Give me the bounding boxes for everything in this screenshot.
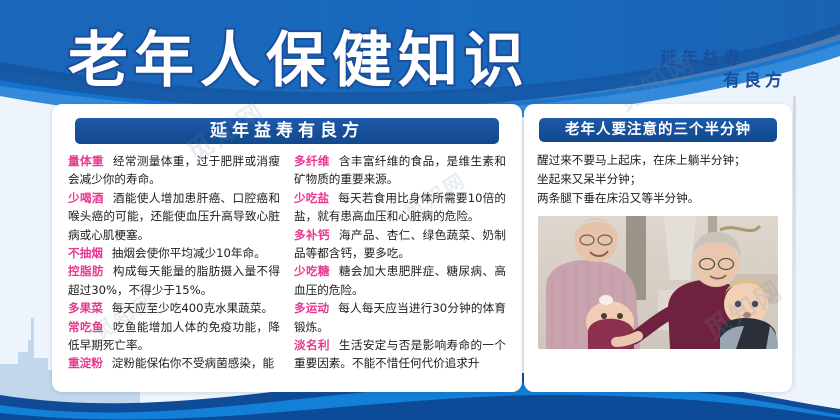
- watermark-strip: [793, 96, 796, 396]
- advice-line: 醒过来不要马上起床，在床上躺半分钟；: [537, 151, 780, 170]
- family-photo: [538, 216, 778, 349]
- tip-item: 控脂肪构成每天能量的脂肪摄入量不得超过30%，不得少于15%。: [68, 262, 280, 299]
- tip-item: 多纤维含丰富纤维的食品，是维生素和矿物质的重要来源。: [294, 152, 506, 189]
- right-panel-heading: 老年人要注意的三个半分钟: [539, 118, 777, 142]
- left-panel-heading: 延年益寿有良方: [75, 118, 499, 144]
- tip-keyword: 少吃糖: [294, 264, 330, 278]
- subtitle-line-1: 延年益寿: [660, 49, 744, 69]
- tip-item: 多果菜每天应至少吃400克水果蔬菜。: [68, 299, 280, 317]
- tip-item: 少吃糖糖会加大患肥胖症、糖尿病、高血压的危险。: [294, 262, 506, 299]
- tip-text: 每天应至少吃400克水果蔬菜。: [112, 301, 273, 315]
- tip-item: 重淀粉淀粉能保佑你不受病菌感染，能: [68, 354, 280, 372]
- tip-keyword: 少喝酒: [68, 191, 104, 205]
- tip-item: 多补钙海产品、杏仁、绿色蔬菜、奶制品等都含钙，要多吃。: [294, 226, 506, 263]
- advice-line: 坐起来又呆半分钟；: [537, 170, 780, 189]
- left-column-1: 量体重经常测量体重，过于肥胖或消瘦会减少你的寿命。 少喝酒酒能使人增加患肝癌、口…: [68, 152, 280, 373]
- tip-keyword: 少吃盐: [294, 191, 329, 205]
- tip-keyword: 不抽烟: [68, 246, 103, 260]
- right-panel-text: 醒过来不要马上起床，在床上躺半分钟； 坐起来又呆半分钟； 两条腿下垂在床沿又等半…: [524, 142, 792, 208]
- subtitle-line-2: 有良方: [612, 70, 792, 92]
- tip-item: 淡名利生活安定与否是影响寿命的一个重要因素。不能不惜任何代价追求升: [294, 336, 506, 373]
- tip-item: 少吃盐每天若食用比身体所需要10倍的盐，就有患高血压和心脏病的危险。: [294, 189, 506, 226]
- tip-keyword: 多运动: [294, 301, 329, 315]
- tip-text: 淀粉能保佑你不受病菌感染，能: [112, 356, 274, 370]
- tip-keyword: 多补钙: [294, 228, 330, 242]
- left-columns: 量体重经常测量体重，过于肥胖或消瘦会减少你的寿命。 少喝酒酒能使人增加患肝癌、口…: [52, 144, 522, 373]
- tip-item: 少喝酒酒能使人增加患肝癌、口腔癌和喉头癌的可能，还能使血压升高导致心脏病或心肌梗…: [68, 189, 280, 244]
- tip-item: 多运动每人每天应当进行30分钟的体育锻炼。: [294, 299, 506, 336]
- poster-root: 老年人保健知识 延年益寿 有良方 延年益寿有良方: [0, 0, 840, 420]
- tip-keyword: 淡名利: [294, 338, 330, 352]
- right-content-card: 老年人要注意的三个半分钟 醒过来不要马上起床，在床上躺半分钟； 坐起来又呆半分钟…: [524, 104, 792, 392]
- tip-keyword: 多纤维: [294, 154, 330, 168]
- page-title: 老年人保健知识: [68, 28, 588, 94]
- tip-keyword: 控脂肪: [68, 264, 104, 278]
- left-content-card: 延年益寿有良方 量体重经常测量体重，过于肥胖或消瘦会减少你的寿命。 少喝酒酒能使…: [52, 104, 522, 392]
- family-photo-illustration: [538, 216, 778, 349]
- tip-keyword: 常吃鱼: [68, 320, 104, 334]
- tip-keyword: 重淀粉: [68, 356, 103, 370]
- tip-item: 常吃鱼吃鱼能增加人体的免疫功能，降低早期死亡率。: [68, 318, 280, 355]
- tip-text: 抽烟会使你平均减少10年命。: [112, 246, 266, 260]
- left-column-2: 多纤维含丰富纤维的食品，是维生素和矿物质的重要来源。 少吃盐每天若食用比身体所需…: [294, 152, 506, 373]
- advice-line: 两条腿下垂在床沿又等半分钟。: [537, 189, 780, 208]
- tip-item: 不抽烟抽烟会使你平均减少10年命。: [68, 244, 280, 262]
- page-subtitle: 延年益寿 有良方: [612, 48, 792, 92]
- tip-keyword: 多果菜: [68, 301, 103, 315]
- tip-keyword: 量体重: [68, 154, 104, 168]
- tip-item: 量体重经常测量体重，过于肥胖或消瘦会减少你的寿命。: [68, 152, 280, 189]
